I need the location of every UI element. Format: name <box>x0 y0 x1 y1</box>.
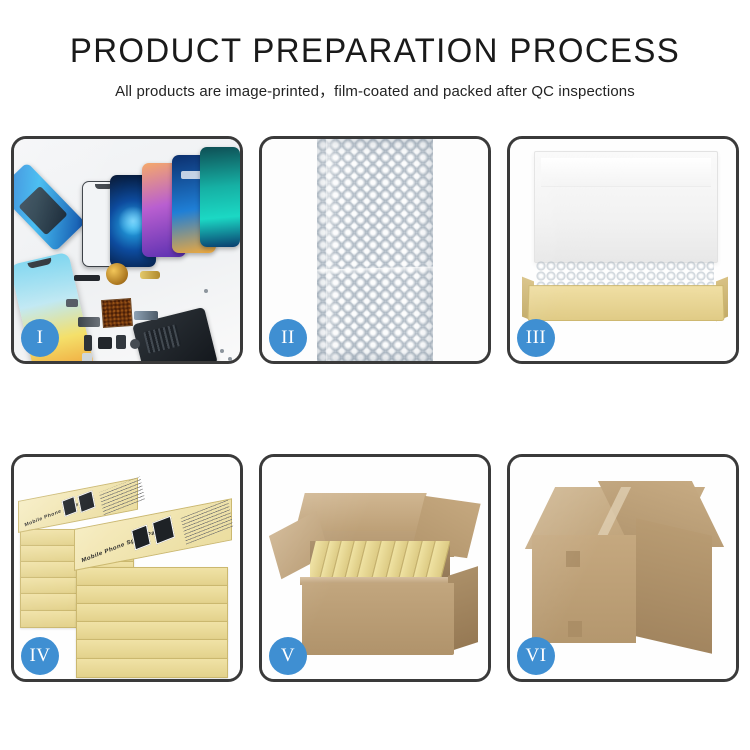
carton-front-panel <box>532 535 636 643</box>
box-spec-lines <box>99 476 145 515</box>
white-box-lid <box>534 151 718 263</box>
page-header: PRODUCT PREPARATION PROCESS All products… <box>0 0 750 101</box>
bubble-wrap-inside-box <box>536 261 714 287</box>
screw-part <box>204 289 208 293</box>
process-step-grid: I II III <box>11 136 739 681</box>
earpiece-part <box>74 275 100 281</box>
box-screen-graphic <box>77 490 95 513</box>
process-step-2[interactable]: II <box>259 136 491 364</box>
carton-front-panel <box>302 583 454 655</box>
process-step-6[interactable]: VI <box>507 454 739 682</box>
carton-tab <box>566 551 580 567</box>
screw-part <box>228 357 232 361</box>
camera-flex-part <box>134 311 158 320</box>
box-spec-lines <box>181 500 233 545</box>
screw-part <box>220 349 224 353</box>
box-layer <box>76 639 228 659</box>
process-step-5[interactable]: V <box>259 454 491 682</box>
box-layer <box>76 621 228 640</box>
chip-array-part <box>101 298 133 328</box>
shield-part <box>66 299 78 307</box>
kraft-box-front <box>527 285 724 321</box>
battery-part <box>82 353 92 361</box>
step-number-badge: II <box>269 319 307 357</box>
phone-screen-teal <box>200 147 240 247</box>
box-layer <box>76 567 228 586</box>
flex-cable-part <box>140 271 160 279</box>
page-title: PRODUCT PREPARATION PROCESS <box>11 34 739 70</box>
speaker-coil-part <box>106 263 128 285</box>
box-layer <box>76 585 228 604</box>
page-subtitle: All products are image-printed，film-coat… <box>6 79 745 101</box>
button-part <box>130 339 140 349</box>
box-layer <box>76 658 228 678</box>
carton-right-side <box>636 518 712 654</box>
box-layer <box>76 603 228 622</box>
step-number-badge: III <box>517 319 555 357</box>
box-screen-graphic <box>152 516 175 545</box>
process-step-4[interactable]: Mobile Phone Spare Parts Mobile Phone Sp… <box>11 454 243 682</box>
sim-tray-part <box>84 335 92 351</box>
bubble-wrap-sleeve <box>317 139 433 361</box>
vibrator-part <box>116 335 126 349</box>
step-number-badge: V <box>269 637 307 675</box>
step-number-badge: I <box>21 319 59 357</box>
process-step-3[interactable]: III <box>507 136 739 364</box>
connector-part <box>78 317 100 327</box>
carton-tab <box>568 621 582 637</box>
speaker-part <box>98 337 112 349</box>
box-screen-graphic <box>131 525 151 551</box>
step-number-badge: IV <box>21 637 59 675</box>
process-step-1[interactable]: I <box>11 136 243 364</box>
step-number-badge: VI <box>517 637 555 675</box>
box-label-text: Mobile Phone Spare Parts <box>81 527 164 565</box>
box-screen-graphic <box>61 496 77 517</box>
